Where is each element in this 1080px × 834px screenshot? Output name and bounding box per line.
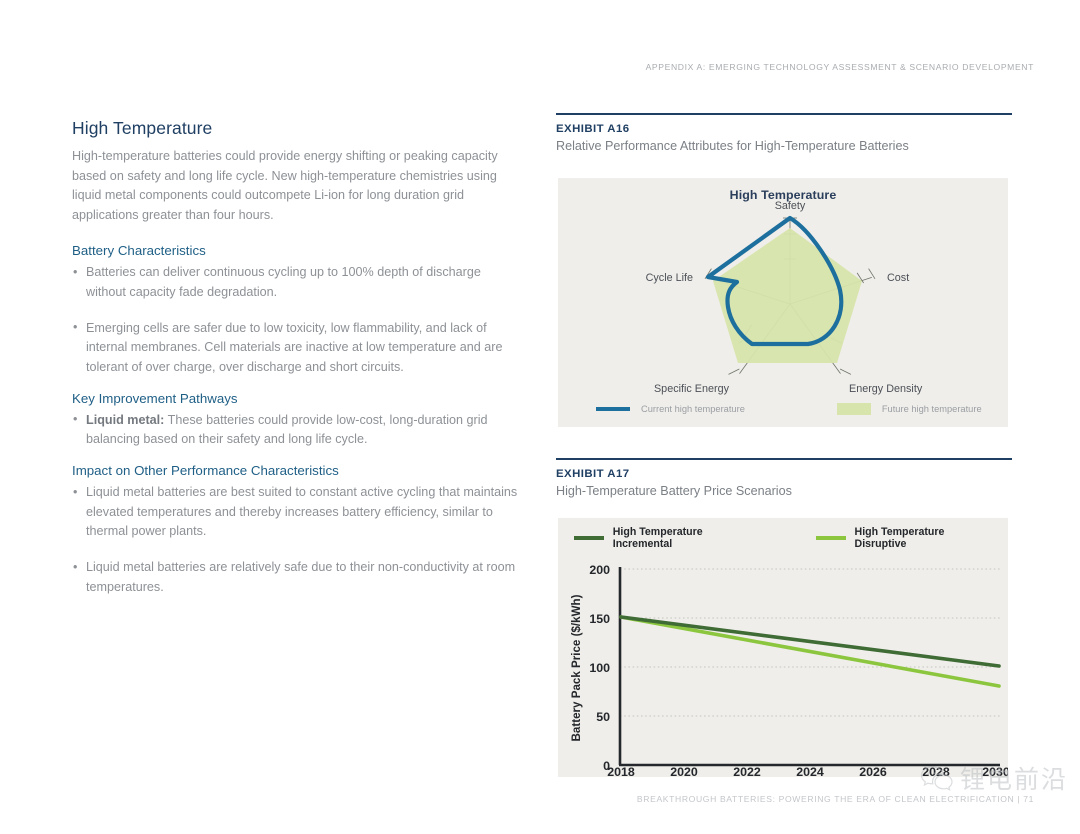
bullet-text: Liquid metal batteries are best suited t… bbox=[86, 485, 517, 538]
list-item: Liquid metal batteries are best suited t… bbox=[72, 483, 520, 541]
x-tick-label: 2022 bbox=[733, 765, 761, 777]
exhibits-column: EXHIBIT A16 Relative Performance Attribu… bbox=[556, 0, 1034, 834]
wechat-icon bbox=[920, 764, 954, 792]
bullet-list-impact: Liquid metal batteries are best suited t… bbox=[72, 483, 520, 596]
legend-item-current-high-temperature: Current high temperature bbox=[596, 404, 745, 414]
y-axis-title: Battery Pack Price ($/kWh) bbox=[570, 594, 583, 741]
exhibit-id: EXHIBIT A16 bbox=[556, 123, 1012, 135]
legend-item-future-high-temperature: Future high temperature bbox=[837, 403, 982, 415]
exhibit-title: High-Temperature Battery Price Scenarios bbox=[556, 484, 1012, 498]
x-tick-label: 2018 bbox=[607, 765, 635, 777]
section-heading-key-improvement-pathways: Key Improvement Pathways bbox=[72, 391, 520, 406]
radar-axis-label-cycle-life: Cycle Life bbox=[646, 272, 693, 284]
exhibit-rule bbox=[556, 458, 1012, 460]
radar-svg: Safety Cost Energy Density Specific Ener… bbox=[558, 178, 1008, 427]
watermark-text: 锂电前沿 bbox=[960, 760, 1068, 796]
exhibit-title: Relative Performance Attributes for High… bbox=[556, 139, 1012, 153]
y-tick-label: 200 bbox=[589, 563, 610, 577]
x-tick-label: 2026 bbox=[859, 765, 887, 777]
y-tick-label: 50 bbox=[596, 710, 610, 724]
page-title: High Temperature bbox=[72, 118, 520, 139]
exhibit-a17-header: EXHIBIT A17 High-Temperature Battery Pri… bbox=[556, 458, 1012, 498]
radar-chart-panel: High Temperature bbox=[558, 178, 1008, 427]
list-item: Emerging cells are safer due to low toxi… bbox=[72, 319, 520, 377]
y-tick-label: 150 bbox=[589, 612, 610, 626]
bullet-lead-in: Liquid metal: bbox=[86, 413, 164, 427]
section-heading-battery-characteristics: Battery Characteristics bbox=[72, 243, 520, 258]
line-chart-plot: 200 150 100 50 0 2018 2020 2022 2024 202… bbox=[558, 518, 1008, 777]
section-heading-impact-on-other-performance-characteristics: Impact on Other Performance Characterist… bbox=[72, 463, 520, 478]
legend-swatch-area-icon bbox=[837, 403, 871, 415]
bullet-text: Emerging cells are safer due to low toxi… bbox=[86, 321, 503, 374]
article-column: High Temperature High-temperature batter… bbox=[72, 118, 520, 611]
bullet-list-battery-characteristics: Batteries can deliver continuous cycling… bbox=[72, 263, 520, 376]
wechat-watermark: 锂电前沿 bbox=[920, 760, 1068, 796]
radar-axis-label-safety: Safety bbox=[775, 200, 806, 212]
line-svg: 200 150 100 50 0 2018 2020 2022 2024 202… bbox=[558, 518, 1008, 777]
bullet-text: Liquid metal batteries are relatively sa… bbox=[86, 560, 515, 593]
radar-axis-label-energy-density: Energy Density bbox=[849, 383, 923, 395]
list-item: Liquid metal: These batteries could prov… bbox=[72, 411, 520, 450]
radar-legend: Current high temperature Future high tem… bbox=[596, 403, 990, 415]
legend-label: Current high temperature bbox=[641, 404, 745, 414]
legend-swatch-line-icon bbox=[596, 407, 630, 411]
list-item: Batteries can deliver continuous cycling… bbox=[72, 263, 520, 302]
line-series-disruptive-main bbox=[621, 617, 999, 686]
radar-chart-plot: Safety Cost Energy Density Specific Ener… bbox=[558, 178, 1008, 427]
legend-label: Future high temperature bbox=[882, 404, 982, 414]
exhibit-a16-header: EXHIBIT A16 Relative Performance Attribu… bbox=[556, 113, 1012, 153]
line-chart-panel: High Temperature Incremental High Temper… bbox=[558, 518, 1008, 777]
radar-axis-label-specific-energy: Specific Energy bbox=[654, 383, 730, 395]
x-tick-label: 2024 bbox=[796, 765, 824, 777]
list-item: Liquid metal batteries are relatively sa… bbox=[72, 558, 520, 597]
line-series-incremental bbox=[621, 617, 999, 666]
bullet-text: Batteries can deliver continuous cycling… bbox=[86, 265, 481, 298]
intro-paragraph: High-temperature batteries could provide… bbox=[72, 147, 520, 225]
x-tick-label: 2020 bbox=[670, 765, 698, 777]
bullet-list-key-improvement-pathways: Liquid metal: These batteries could prov… bbox=[72, 411, 520, 450]
y-tick-label: 100 bbox=[589, 661, 610, 675]
radar-axis-label-cost: Cost bbox=[887, 272, 909, 284]
exhibit-id: EXHIBIT A17 bbox=[556, 468, 1012, 480]
exhibit-rule bbox=[556, 113, 1012, 115]
